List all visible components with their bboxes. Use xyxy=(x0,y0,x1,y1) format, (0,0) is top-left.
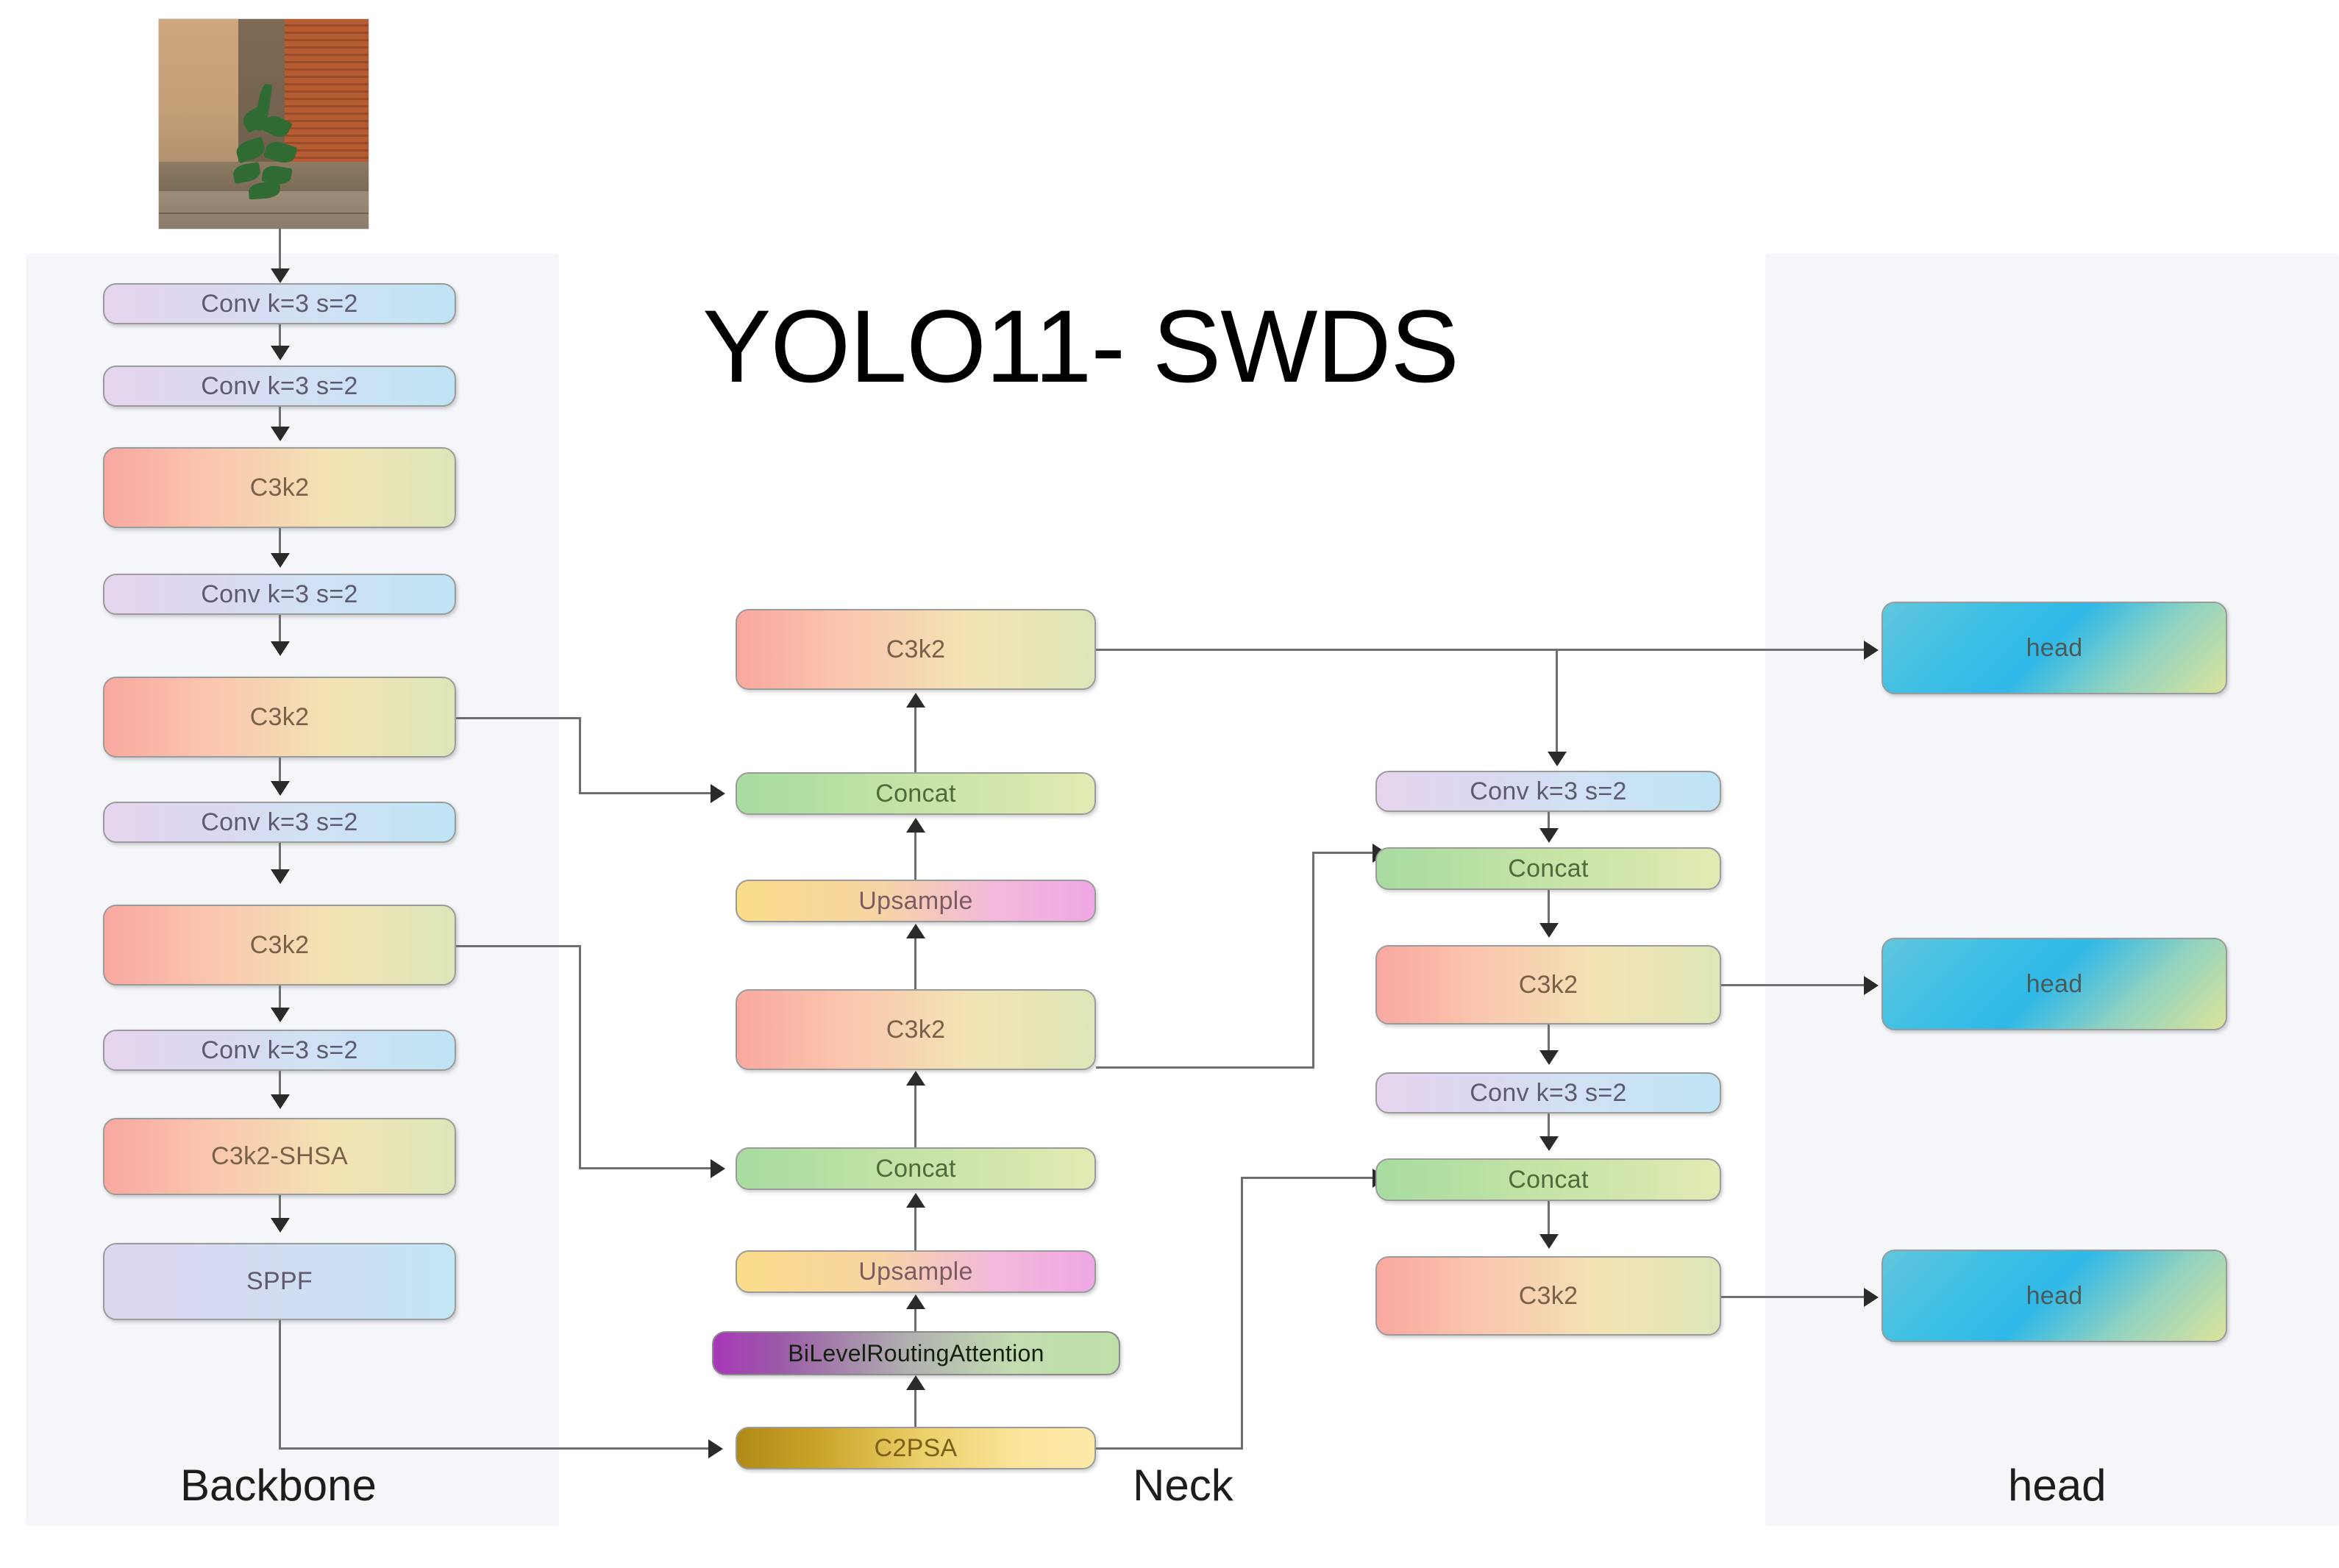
arrowhead-nk-upsample-bot xyxy=(906,1294,925,1309)
node-label: Conv k=3 s=2 xyxy=(1470,1079,1626,1108)
node-label: Upsample xyxy=(858,887,972,916)
edge-branch-to-dp-conv1 xyxy=(1556,649,1558,763)
edge-c2psa-h1 xyxy=(1096,1447,1243,1450)
node-dp-concat1[interactable]: Concat xyxy=(1375,847,1721,890)
arrowhead-nk-c3k2-mid xyxy=(906,1071,925,1086)
node-label: C3k2 xyxy=(250,703,310,732)
node-label: Upsample xyxy=(858,1258,972,1286)
arrowhead-dp-c3k2-1 xyxy=(1539,923,1559,938)
node-label: Concat xyxy=(1508,1166,1589,1194)
arrowhead-nk-upsample-top xyxy=(906,924,925,938)
node-label: Conv k=3 s=2 xyxy=(201,372,357,401)
node-label: Conv k=3 s=2 xyxy=(201,290,357,318)
node-nk-concat-top[interactable]: Concat xyxy=(736,772,1096,815)
node-bb-sppf[interactable]: SPPF xyxy=(103,1243,456,1320)
edge-skip2-h2 xyxy=(579,792,722,794)
node-bb-conv5[interactable]: Conv k=3 s=2 xyxy=(103,1030,456,1071)
arrowhead-dp-conv1 xyxy=(1548,752,1567,766)
node-label: Concat xyxy=(1508,855,1589,883)
arrowhead-bb-conv2 xyxy=(271,346,290,360)
arrowhead-dp-concat2 xyxy=(1539,1136,1559,1151)
plant-shape xyxy=(230,84,302,202)
edge-dp-c3k2-1-to-head xyxy=(1721,984,1876,986)
zone-label-head: head xyxy=(2008,1460,2106,1511)
arrowhead-dp-c3k2-2 xyxy=(1539,1234,1559,1249)
edge-nk-c3k2-mid-v xyxy=(1312,852,1314,1069)
node-label: Conv k=3 s=2 xyxy=(1470,777,1626,806)
node-nk-upsample-top[interactable]: Upsample xyxy=(736,880,1096,922)
edge-nk-c3k2-mid-h1 xyxy=(1096,1066,1314,1069)
page-title: YOLO11- SWDS xyxy=(702,287,1459,406)
arrowhead-head-p4 xyxy=(1864,976,1879,995)
node-head-p5[interactable]: head xyxy=(1881,1250,2227,1342)
arrowhead-bb-c3k2-1 xyxy=(271,427,290,441)
node-nk-concat-bot[interactable]: Concat xyxy=(736,1147,1096,1190)
arrowhead-bb-conv3 xyxy=(271,553,290,568)
node-bb-conv1[interactable]: Conv k=3 s=2 xyxy=(103,283,456,324)
edge-dp-c3k2-2-to-head xyxy=(1721,1296,1876,1298)
arrowhead-neck-concat-top-left xyxy=(711,784,725,803)
arrowhead-nk-concat-top xyxy=(906,818,925,833)
edge-nk-c3k2-mid-to-up-top xyxy=(914,934,916,991)
node-dp-conv2[interactable]: Conv k=3 s=2 xyxy=(1375,1072,1721,1113)
arrowhead-bb-conv5 xyxy=(271,1008,290,1022)
arrowhead-c2psa-in xyxy=(708,1439,723,1458)
arrowhead-dp-concat1 xyxy=(1539,828,1559,843)
node-nk-bilevelroutingattention[interactable]: BiLevelRoutingAttention xyxy=(712,1331,1120,1375)
edge-c2psa-v xyxy=(1241,1177,1243,1450)
node-label: head xyxy=(2026,634,2083,663)
backbone-zone-panel xyxy=(26,254,559,1526)
node-label: SPPF xyxy=(246,1267,313,1296)
node-dp-conv1[interactable]: Conv k=3 s=2 xyxy=(1375,771,1721,812)
edge-skip2-v xyxy=(579,717,581,794)
node-label: Concat xyxy=(875,780,956,808)
zone-label-neck: Neck xyxy=(1133,1460,1233,1511)
node-label: C3k2 xyxy=(250,931,310,960)
arrowhead-bb-conv4 xyxy=(271,781,290,796)
edge-sppf-down xyxy=(279,1320,281,1449)
node-label: Conv k=3 s=2 xyxy=(201,580,357,609)
node-label: C3k2 xyxy=(250,474,310,502)
node-bb-c3k2-shsa[interactable]: C3k2-SHSA xyxy=(103,1118,456,1195)
arrowhead-bb-c3k2-3 xyxy=(271,869,290,884)
edge-nk-concat-top-to-c3k2 xyxy=(914,706,916,772)
arrowhead-bb-shsa xyxy=(271,1094,290,1109)
node-label: C3k2 xyxy=(1519,971,1578,999)
edge-image-to-conv1 xyxy=(279,228,281,274)
arrowhead-image-to-conv1 xyxy=(271,268,290,283)
arrowhead-head-p5 xyxy=(1864,1288,1879,1307)
arrowhead-bb-sppf xyxy=(271,1218,290,1233)
arrowhead-dp-conv2 xyxy=(1539,1050,1559,1065)
arrowhead-bb-c3k2-2 xyxy=(271,641,290,656)
node-nk-c3k2-top[interactable]: C3k2 xyxy=(736,609,1096,690)
node-bb-c3k2-1[interactable]: C3k2 xyxy=(103,447,456,528)
node-dp-c3k2-2[interactable]: C3k2 xyxy=(1375,1256,1721,1336)
edge-c2psa-h2 xyxy=(1241,1177,1386,1179)
node-head-p3[interactable]: head xyxy=(1881,602,2227,694)
node-dp-c3k2-1[interactable]: C3k2 xyxy=(1375,945,1721,1024)
node-nk-upsample-bot[interactable]: Upsample xyxy=(736,1250,1096,1293)
zone-label-backbone: Backbone xyxy=(180,1460,377,1511)
edge-nk-concat-bot-to-c3k2-mid xyxy=(914,1081,916,1147)
node-head-p4[interactable]: head xyxy=(1881,938,2227,1030)
node-label: Conv k=3 s=2 xyxy=(201,808,357,837)
node-label: BiLevelRoutingAttention xyxy=(788,1340,1044,1367)
node-label: C2PSA xyxy=(875,1434,958,1463)
node-nk-c3k2-mid[interactable]: C3k2 xyxy=(736,989,1096,1070)
edge-skip3-h1 xyxy=(456,945,581,947)
arrowhead-nk-c3k2-top xyxy=(906,693,925,708)
arrowhead-head-p3 xyxy=(1864,641,1879,660)
node-dp-concat2[interactable]: Concat xyxy=(1375,1158,1721,1201)
edge-nk-up-bot-to-concat-bot xyxy=(914,1203,916,1253)
node-bb-c3k2-3[interactable]: C3k2 xyxy=(103,905,456,986)
edge-skip2-h1 xyxy=(456,717,581,719)
arrowhead-neck-concat-bot-left xyxy=(711,1159,725,1178)
node-bb-conv3[interactable]: Conv k=3 s=2 xyxy=(103,574,456,615)
arrowhead-nk-concat-bot xyxy=(906,1193,925,1208)
node-label: C3k2 xyxy=(886,635,946,664)
edge-nk-up-top-to-concat xyxy=(914,830,916,881)
node-label: C3k2 xyxy=(1519,1282,1578,1311)
edge-nk-c3k2-top-to-head xyxy=(1096,649,1876,651)
node-label: C3k2 xyxy=(886,1016,946,1044)
node-bb-conv4[interactable]: Conv k=3 s=2 xyxy=(103,802,456,843)
node-nk-c2psa[interactable]: C2PSA xyxy=(736,1427,1096,1469)
node-label: C3k2-SHSA xyxy=(211,1142,348,1171)
edge-skip3-v xyxy=(579,945,581,1169)
arrowhead-nk-bira xyxy=(906,1375,925,1390)
node-bb-conv2[interactable]: Conv k=3 s=2 xyxy=(103,366,456,407)
node-label: head xyxy=(2026,1282,2083,1311)
node-label: Conv k=3 s=2 xyxy=(201,1036,357,1065)
edge-sppf-to-c2psa xyxy=(279,1447,720,1450)
input-image-thumbnail xyxy=(158,18,369,229)
node-label: Concat xyxy=(875,1155,956,1183)
node-bb-c3k2-2[interactable]: C3k2 xyxy=(103,677,456,758)
node-label: head xyxy=(2026,970,2083,999)
edge-skip3-h2 xyxy=(579,1167,722,1169)
